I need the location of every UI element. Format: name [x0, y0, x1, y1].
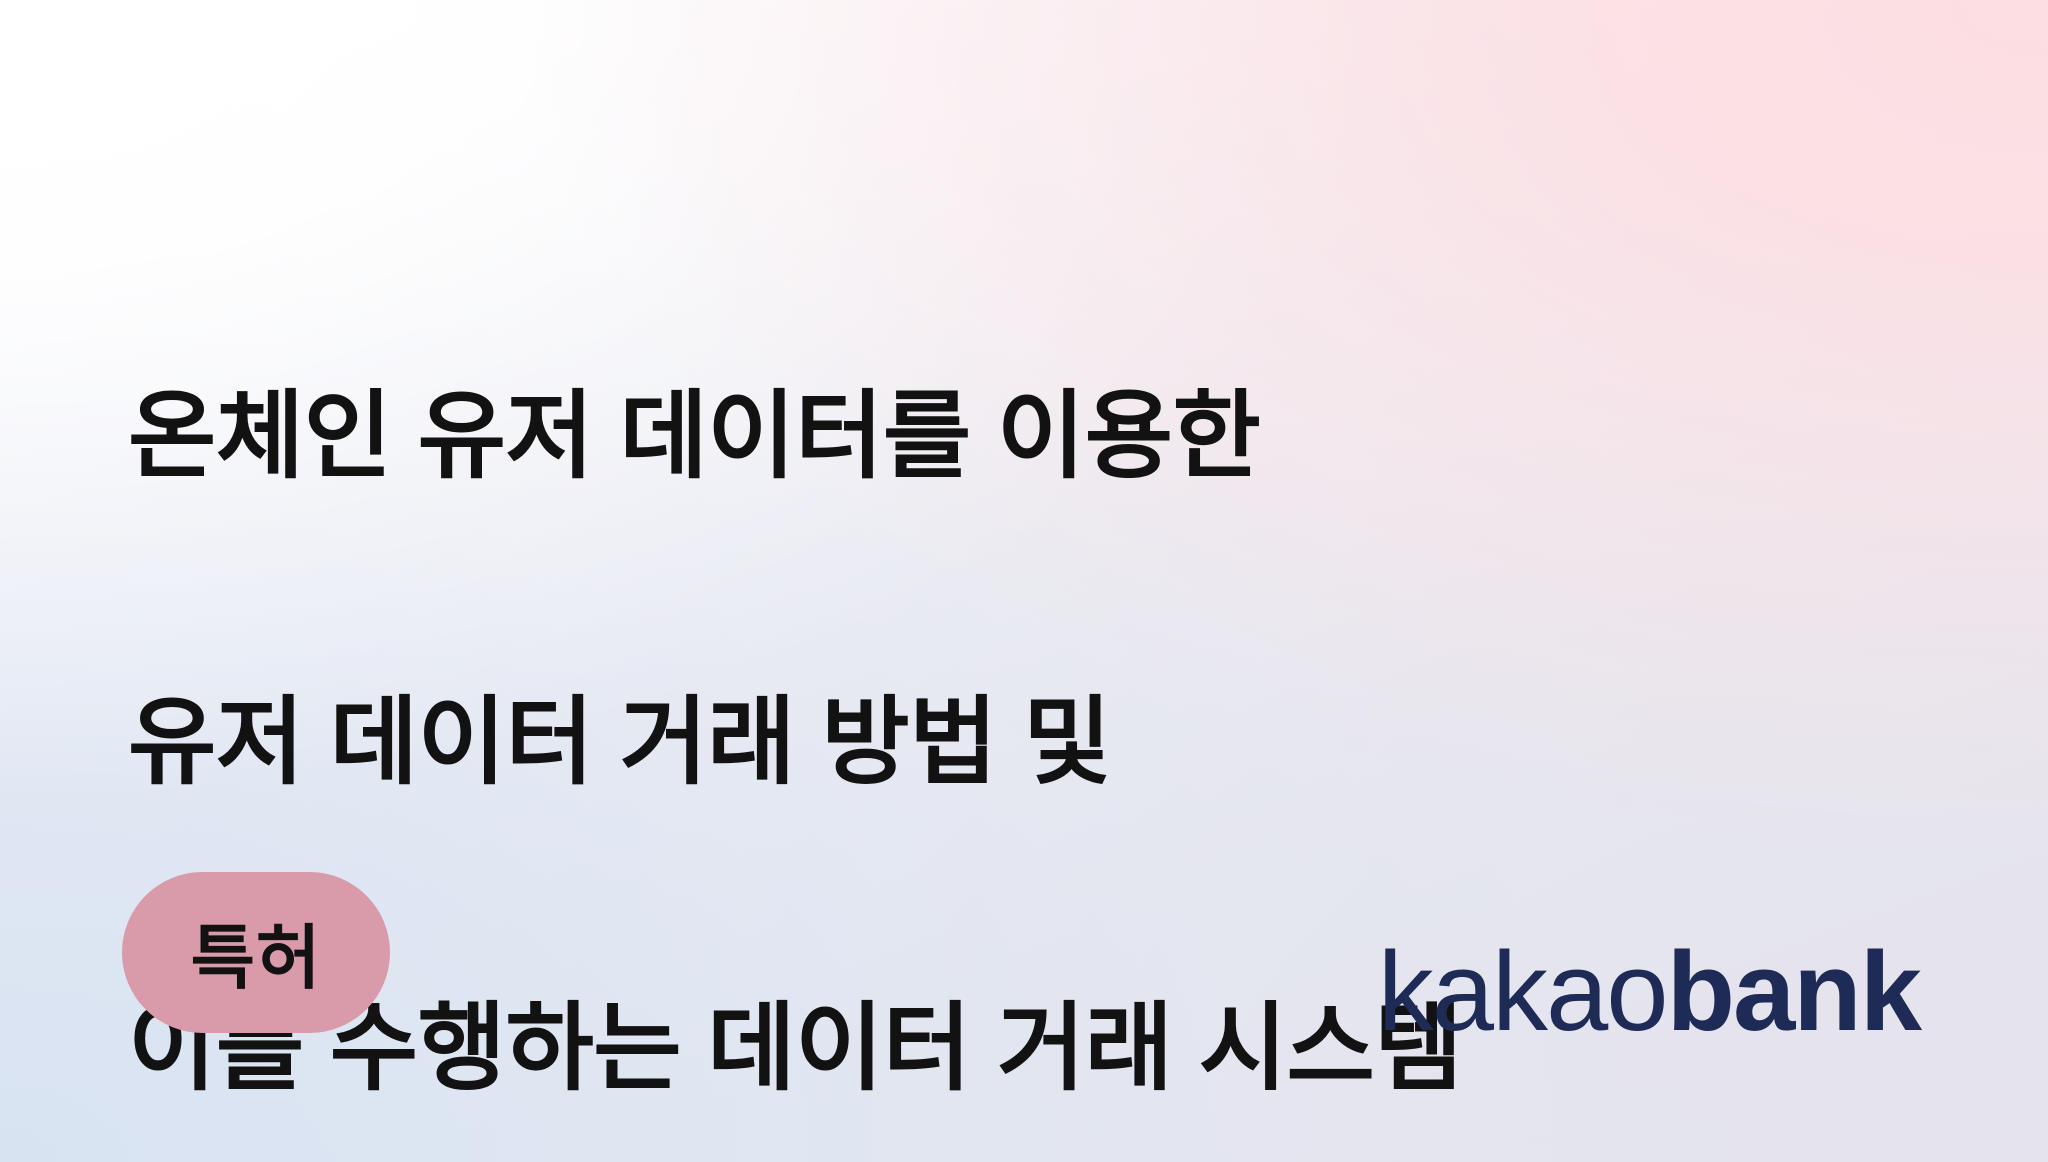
- title-line-1: 온체인 유저 데이터를 이용한: [128, 360, 1768, 513]
- logo-text-bank: bank: [1667, 936, 1920, 1048]
- status-badge-label: 특허: [191, 902, 322, 1003]
- title-line-2: 유저 데이터 거래 방법 및: [128, 666, 1768, 819]
- status-badge: 특허: [122, 872, 390, 1033]
- kakaobank-logo: kakaobank: [1378, 936, 1920, 1048]
- logo-text-kakao: kakao: [1378, 936, 1667, 1048]
- patent-card: 온체인 유저 데이터를 이용한 유저 데이터 거래 방법 및 이를 수행하는 데…: [0, 0, 2048, 1162]
